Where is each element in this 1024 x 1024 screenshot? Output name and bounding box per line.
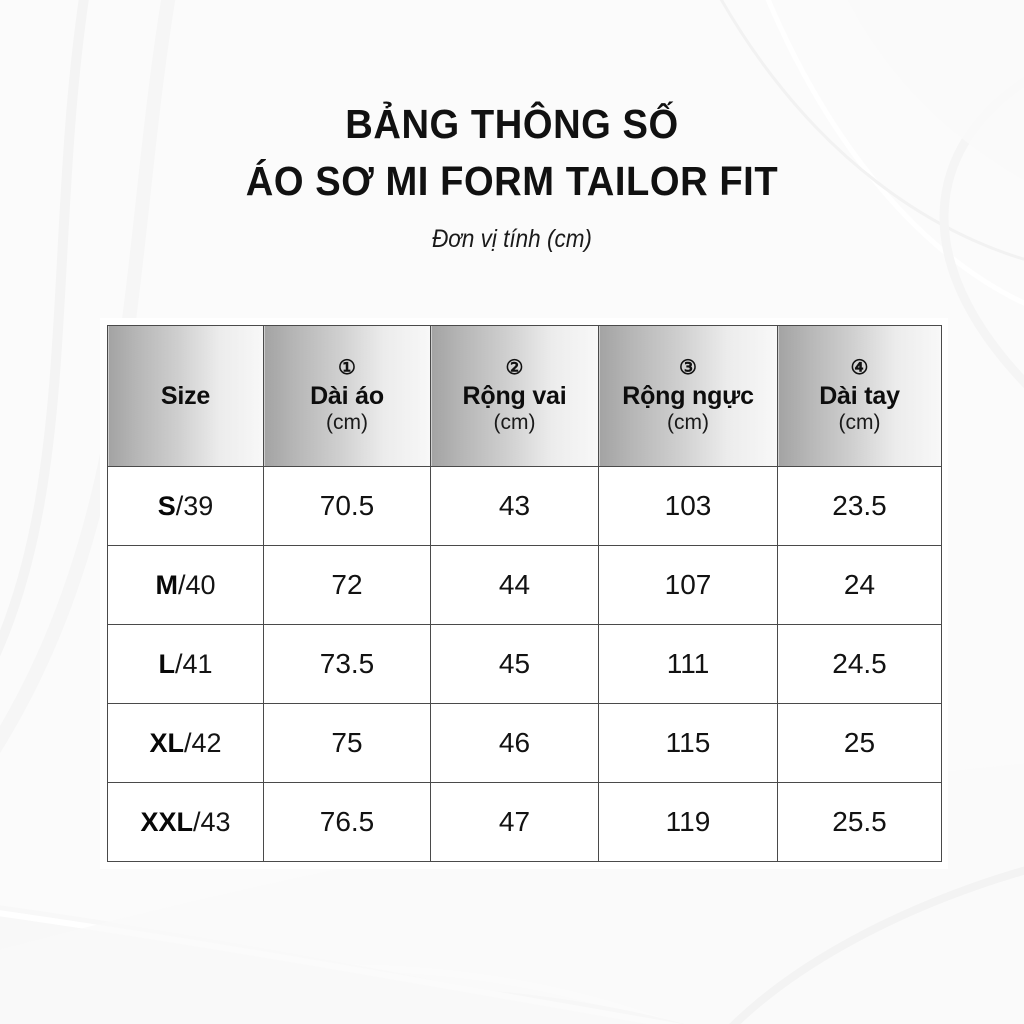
cell-size: XXL/43 <box>108 783 264 862</box>
column-header-dai-tay: ④ Dài tay (cm) <box>778 326 942 467</box>
table-row: XXL/43 76.5 47 119 25.5 <box>108 783 942 862</box>
column-header-rong-vai: ② Rộng vai (cm) <box>431 326 599 467</box>
size-number: /41 <box>175 649 213 679</box>
cell-dai-tay: 24.5 <box>778 625 942 704</box>
page-title-line-2: ÁO SƠ MI FORM TAILOR FIT <box>36 153 988 210</box>
cell-dai-tay: 23.5 <box>778 467 942 546</box>
column-header-dai-ao-label: Dài áo <box>310 382 384 410</box>
column-header-dai-tay-unit: (cm) <box>839 411 881 435</box>
cell-size: M/40 <box>108 546 264 625</box>
table-row: M/40 72 44 107 24 <box>108 546 942 625</box>
cell-dai-ao: 70.5 <box>264 467 431 546</box>
header-row: Size ① Dài áo (cm) ② Rộng vai <box>108 326 942 467</box>
cell-dai-ao: 75 <box>264 704 431 783</box>
column-header-size-label: Size <box>161 382 210 410</box>
size-chart-page: BẢNG THÔNG SỐ ÁO SƠ MI FORM TAILOR FIT Đ… <box>0 0 1024 1024</box>
cell-dai-tay: 25 <box>778 704 942 783</box>
cell-rong-vai: 43 <box>431 467 599 546</box>
title-block: BẢNG THÔNG SỐ ÁO SƠ MI FORM TAILOR FIT Đ… <box>0 96 1024 254</box>
table-row: S/39 70.5 43 103 23.5 <box>108 467 942 546</box>
column-header-dai-tay-label: Dài tay <box>819 382 900 410</box>
size-number: /42 <box>184 728 222 758</box>
column-header-dai-ao: ① Dài áo (cm) <box>264 326 431 467</box>
cell-rong-vai: 44 <box>431 546 599 625</box>
size-number: /43 <box>193 807 231 837</box>
cell-size: L/41 <box>108 625 264 704</box>
column-header-rong-nguc: ③ Rộng ngực (cm) <box>599 326 778 467</box>
size-letter: XL <box>149 728 184 758</box>
size-letter: L <box>158 649 175 679</box>
column-header-rong-nguc-label: Rộng ngực <box>622 382 754 410</box>
cell-dai-ao: 76.5 <box>264 783 431 862</box>
cell-rong-nguc: 107 <box>599 546 778 625</box>
cell-rong-nguc: 119 <box>599 783 778 862</box>
table-row: L/41 73.5 45 111 24.5 <box>108 625 942 704</box>
table-body: S/39 70.5 43 103 23.5 M/40 72 44 107 24 … <box>108 467 942 862</box>
cell-rong-vai: 46 <box>431 704 599 783</box>
cell-rong-nguc: 111 <box>599 625 778 704</box>
circled-number-1-icon: ① <box>338 358 356 378</box>
cell-size: S/39 <box>108 467 264 546</box>
page-subtitle: Đơn vị tính (cm) <box>51 225 973 254</box>
cell-rong-nguc: 103 <box>599 467 778 546</box>
cell-dai-tay: 25.5 <box>778 783 942 862</box>
cell-dai-ao: 72 <box>264 546 431 625</box>
table-row: XL/42 75 46 115 25 <box>108 704 942 783</box>
column-header-rong-vai-unit: (cm) <box>494 411 536 435</box>
cell-dai-tay: 24 <box>778 546 942 625</box>
cell-size: XL/42 <box>108 704 264 783</box>
size-table-container: Size ① Dài áo (cm) ② Rộng vai <box>100 318 948 869</box>
size-letter: XXL <box>140 807 193 837</box>
size-letter: S <box>158 491 176 521</box>
cell-rong-vai: 45 <box>431 625 599 704</box>
circled-number-2-icon: ② <box>506 358 524 378</box>
column-header-dai-ao-unit: (cm) <box>326 411 368 435</box>
column-header-rong-vai-label: Rộng vai <box>463 382 567 410</box>
size-number: /39 <box>176 491 214 521</box>
page-title-line-1: BẢNG THÔNG SỐ <box>36 96 988 153</box>
table-header: Size ① Dài áo (cm) ② Rộng vai <box>108 326 942 467</box>
size-letter: M <box>155 570 178 600</box>
circled-number-3-icon: ③ <box>679 358 697 378</box>
size-number: /40 <box>178 570 216 600</box>
column-header-rong-nguc-unit: (cm) <box>667 411 709 435</box>
circled-number-4-icon: ④ <box>851 358 869 378</box>
column-header-size: Size <box>108 326 264 467</box>
cell-rong-nguc: 115 <box>599 704 778 783</box>
cell-dai-ao: 73.5 <box>264 625 431 704</box>
cell-rong-vai: 47 <box>431 783 599 862</box>
size-table: Size ① Dài áo (cm) ② Rộng vai <box>107 325 942 862</box>
